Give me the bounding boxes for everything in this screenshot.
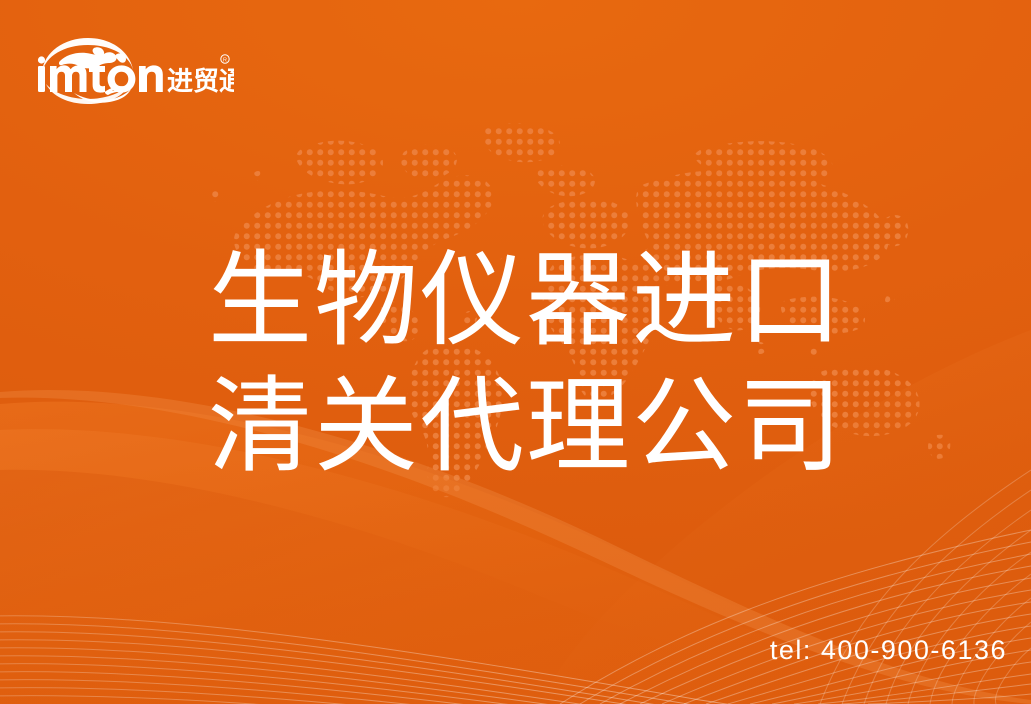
page-title: 生物仪器进口 清关代理公司 (208, 238, 848, 490)
svg-text:R: R (223, 57, 227, 63)
headline-line-1: 生物仪器进口 (208, 238, 848, 364)
registered-trademark-icon: R (221, 55, 229, 64)
promo-banner: 进贸通 R 生物仪器进口 清关代理公司 tel: 400-900-6136 (0, 0, 1031, 704)
brand-logo[interactable]: 进贸通 R (34, 32, 234, 106)
logo-chinese-text: 进贸通 (167, 66, 234, 96)
headline-line-2: 清关代理公司 (208, 364, 848, 490)
contact-phone[interactable]: tel: 400-900-6136 (770, 635, 1007, 666)
